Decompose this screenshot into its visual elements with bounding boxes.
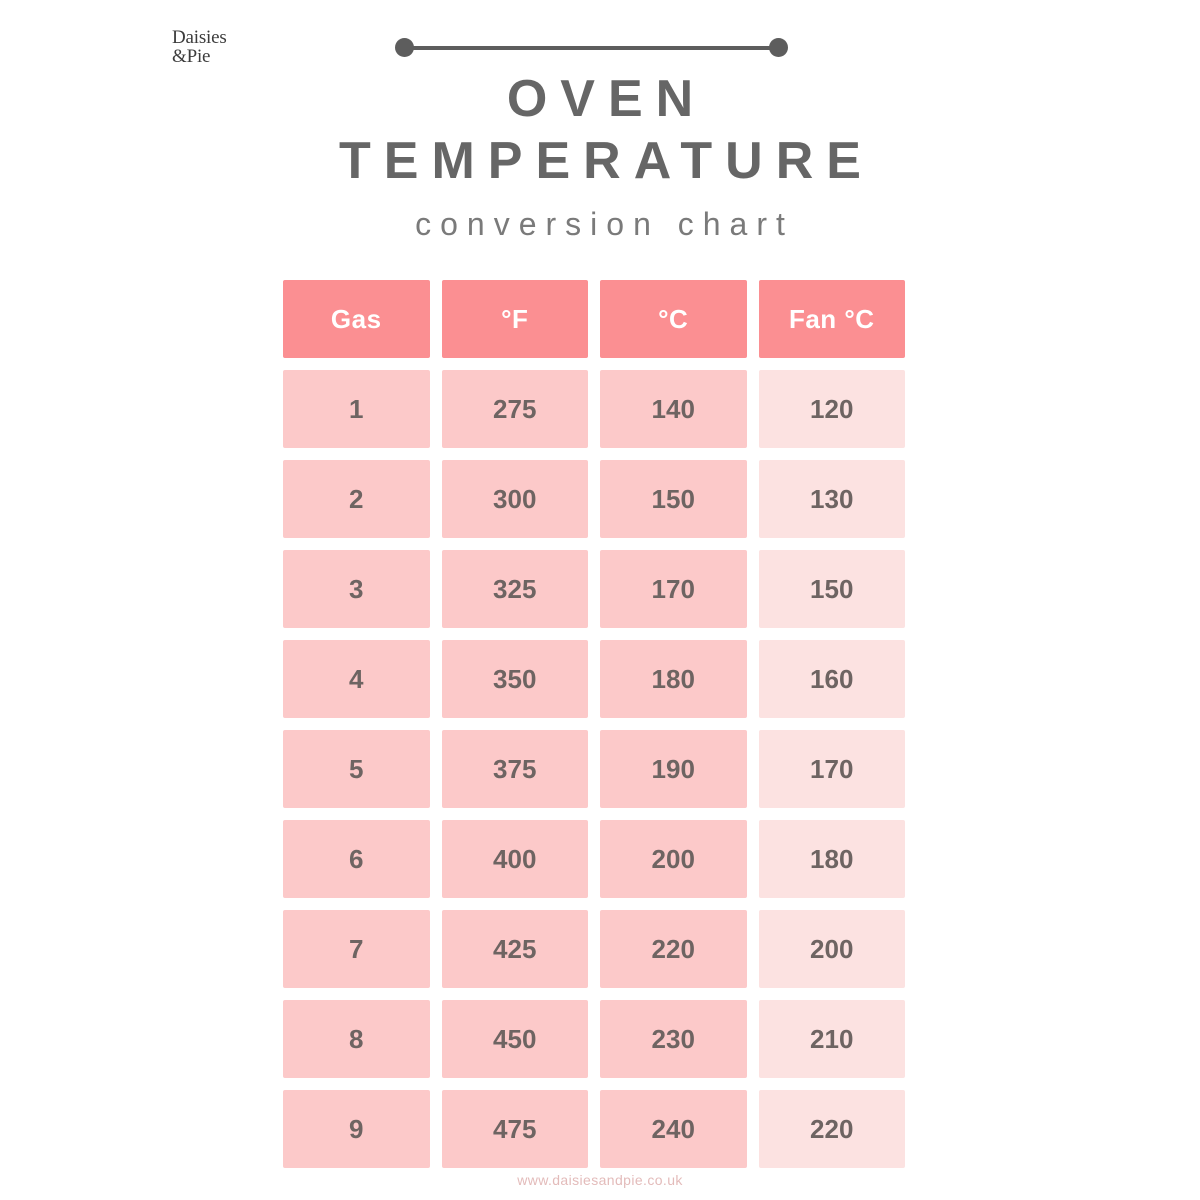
cell-celsius: 220 [600,910,747,988]
cell-fan-celsius: 180 [759,820,906,898]
cell-fan-celsius: 130 [759,460,906,538]
cell-fahrenheit: 325 [442,550,589,628]
table-row: 4 350 180 160 [283,640,905,718]
table-row: 5 375 190 170 [283,730,905,808]
cell-gas: 7 [283,910,430,988]
cell-celsius: 200 [600,820,747,898]
table-row: 7 425 220 200 [283,910,905,988]
table-row: 8 450 230 210 [283,1000,905,1078]
cell-fahrenheit: 350 [442,640,589,718]
cell-gas: 4 [283,640,430,718]
divider-rule [395,38,788,58]
cell-fan-celsius: 200 [759,910,906,988]
cell-gas: 5 [283,730,430,808]
divider-dot-left-icon [395,38,414,57]
cell-fan-celsius: 160 [759,640,906,718]
cell-celsius: 180 [600,640,747,718]
footer-url: www.daisiesandpie.co.uk [0,1172,1200,1188]
brand-logo-line1: Daisies [172,28,227,47]
table-header-gas: Gas [283,280,430,358]
table-header-celsius: °C [600,280,747,358]
table-row: 6 400 200 180 [283,820,905,898]
cell-fahrenheit: 450 [442,1000,589,1078]
brand-logo: Daisies &Pie [172,28,227,67]
cell-fahrenheit: 300 [442,460,589,538]
cell-celsius: 170 [600,550,747,628]
cell-fahrenheit: 475 [442,1090,589,1168]
cell-celsius: 140 [600,370,747,448]
table-header-fan-celsius: Fan °C [759,280,906,358]
page-subtitle: conversion chart [0,206,1200,243]
cell-gas: 2 [283,460,430,538]
cell-fan-celsius: 150 [759,550,906,628]
page-title-line2: TEMPERATURE [0,130,1200,192]
cell-fan-celsius: 220 [759,1090,906,1168]
cell-fan-celsius: 210 [759,1000,906,1078]
cell-celsius: 230 [600,1000,747,1078]
cell-gas: 6 [283,820,430,898]
table-row: 1 275 140 120 [283,370,905,448]
cell-fan-celsius: 170 [759,730,906,808]
brand-logo-line2: &Pie [172,47,227,66]
cell-celsius: 150 [600,460,747,538]
table-row: 2 300 150 130 [283,460,905,538]
cell-fahrenheit: 275 [442,370,589,448]
cell-fan-celsius: 120 [759,370,906,448]
cell-gas: 3 [283,550,430,628]
conversion-table: Gas °F °C Fan °C 1 275 140 120 2 300 150… [283,280,905,1180]
table-header-row: Gas °F °C Fan °C [283,280,905,358]
divider-line [404,46,779,50]
page-title-block: OVEN TEMPERATURE conversion chart [0,68,1200,243]
divider-dot-right-icon [769,38,788,57]
table-row: 3 325 170 150 [283,550,905,628]
cell-gas: 1 [283,370,430,448]
cell-gas: 9 [283,1090,430,1168]
page-title-line1: OVEN [0,68,1200,130]
cell-celsius: 190 [600,730,747,808]
cell-fahrenheit: 400 [442,820,589,898]
table-header-fahrenheit: °F [442,280,589,358]
cell-fahrenheit: 425 [442,910,589,988]
cell-fahrenheit: 375 [442,730,589,808]
cell-gas: 8 [283,1000,430,1078]
cell-celsius: 240 [600,1090,747,1168]
table-row: 9 475 240 220 [283,1090,905,1168]
